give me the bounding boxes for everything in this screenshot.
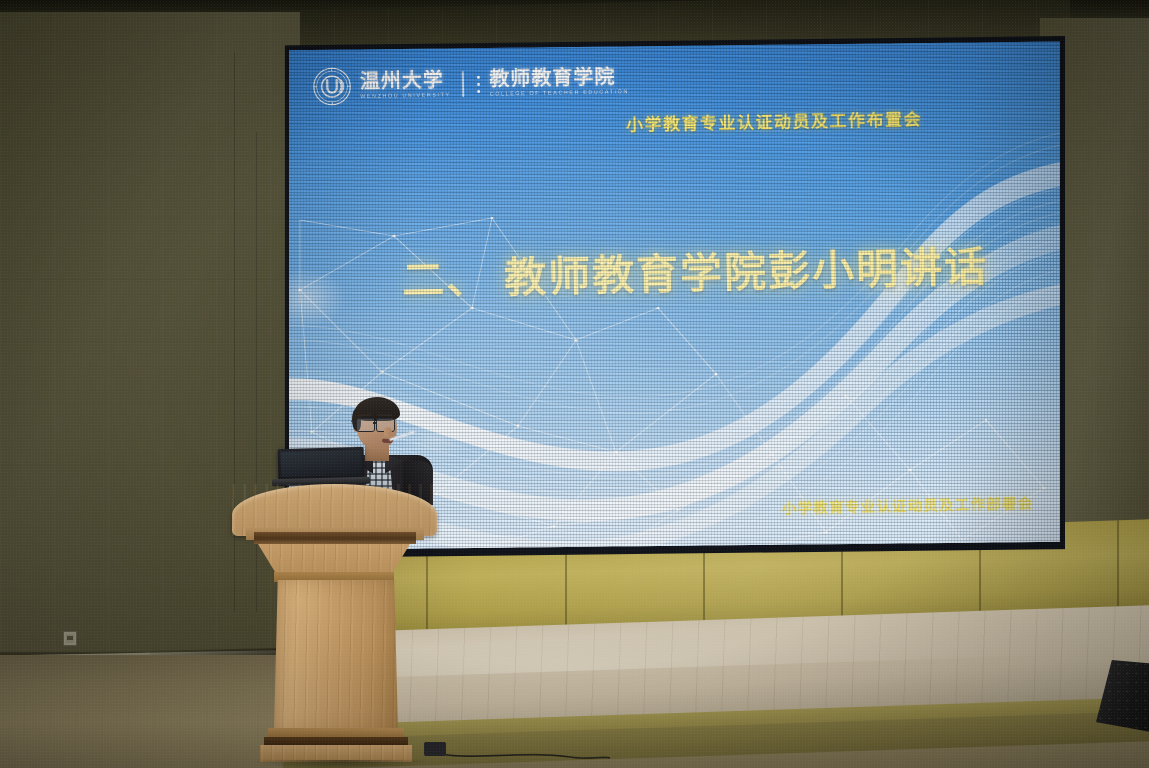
brand-divider <box>461 71 463 97</box>
slide-title-number: 二、 <box>402 255 491 304</box>
presenter-nose <box>384 427 392 437</box>
slide-title-text: 教师教育学院彭小明讲话 <box>504 243 989 301</box>
wooden-lectern <box>232 478 437 768</box>
laptop-screen <box>281 450 362 477</box>
wenzhou-university-seal-icon <box>312 66 353 107</box>
college-name-block: 教师教育学院 COLLEGE OF TEACHER EDUCATION <box>489 67 629 98</box>
college-name-cn: 教师教育学院 <box>489 67 629 90</box>
floor-cable <box>430 748 610 764</box>
wood-grain <box>258 544 410 574</box>
wall-outlet <box>63 631 77 646</box>
panel-seam <box>1117 520 1119 606</box>
wood-grain <box>274 580 398 732</box>
lectern-taper <box>258 544 410 574</box>
university-name-en: WENZHOU UNIVERSITY <box>360 93 451 100</box>
floor-power-box <box>424 742 446 756</box>
college-name-en: COLLEGE OF TEACHER EDUCATION <box>490 90 629 98</box>
brand-dots-icon <box>476 75 479 92</box>
lens-left <box>356 418 375 432</box>
lectern-dark-band <box>254 532 416 544</box>
university-name-cn: 温州大学 <box>360 70 451 92</box>
slide-brand-bar: 温州大学 WENZHOU UNIVERSITY 教师教育学院 COLLEGE O… <box>312 61 629 107</box>
conference-photo: 温州大学 WENZHOU UNIVERSITY 教师教育学院 COLLEGE O… <box>0 0 1149 768</box>
glasses-bridge <box>373 422 377 424</box>
university-name-block: 温州大学 WENZHOU UNIVERSITY <box>360 70 451 100</box>
eyeglasses-icon <box>355 418 400 431</box>
lectern-floor-shadow <box>254 760 430 768</box>
lectern-column <box>274 580 398 732</box>
